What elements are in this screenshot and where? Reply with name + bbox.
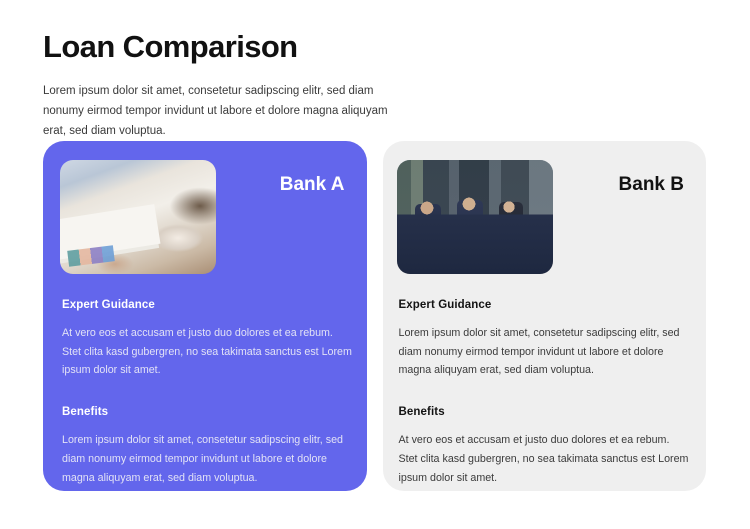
comparison-cards: Bank A Expert Guidance At vero eos et ac… [43, 141, 706, 491]
loan-comparison-page: Loan Comparison Lorem ipsum dolor sit am… [0, 0, 750, 529]
bank-b-section-benefits: Benefits At vero eos et accusam et justo… [399, 406, 684, 487]
page-header: Loan Comparison Lorem ipsum dolor sit am… [43, 30, 413, 141]
card-bank-b[interactable]: Bank B Expert Guidance Lorem ipsum dolor… [383, 141, 706, 491]
bank-a-section-benefits: Benefits Lorem ipsum dolor sit amet, con… [62, 406, 345, 487]
bank-b-section-expert-guidance: Expert Guidance Lorem ipsum dolor sit am… [399, 299, 684, 380]
bank-a-section-expert-guidance: Expert Guidance At vero eos et accusam e… [62, 299, 345, 380]
card-bank-a[interactable]: Bank A Expert Guidance At vero eos et ac… [43, 141, 367, 491]
bank-a-benefits-heading: Benefits [62, 406, 345, 418]
bank-b-benefits-heading: Benefits [399, 406, 684, 418]
person-left-figure [415, 204, 441, 274]
bank-a-photo [60, 160, 216, 274]
bank-b-expert-guidance-text: Lorem ipsum dolor sit amet, consetetur s… [399, 324, 689, 380]
bank-a-expert-guidance-text: At vero eos et accusam et justo duo dolo… [62, 324, 352, 380]
card-b-body: Expert Guidance Lorem ipsum dolor sit am… [397, 299, 684, 487]
card-b-top: Bank B [397, 160, 684, 276]
bank-b-photo [397, 160, 553, 274]
person-middle-figure [457, 200, 483, 274]
card-a-top: Bank A [60, 160, 345, 276]
bank-b-benefits-text: At vero eos et accusam et justo duo dolo… [399, 431, 689, 487]
page-title: Loan Comparison [43, 30, 413, 64]
bank-a-benefits-text: Lorem ipsum dolor sit amet, consetetur s… [62, 431, 352, 487]
person-right-figure [499, 202, 523, 274]
bank-a-title: Bank A [280, 174, 345, 197]
intro-paragraph: Lorem ipsum dolor sit amet, consetetur s… [43, 82, 388, 141]
card-a-body: Expert Guidance At vero eos et accusam e… [60, 299, 345, 487]
bank-b-title: Bank B [619, 174, 684, 197]
bank-a-expert-guidance-heading: Expert Guidance [62, 299, 345, 311]
bank-b-expert-guidance-heading: Expert Guidance [399, 299, 684, 311]
